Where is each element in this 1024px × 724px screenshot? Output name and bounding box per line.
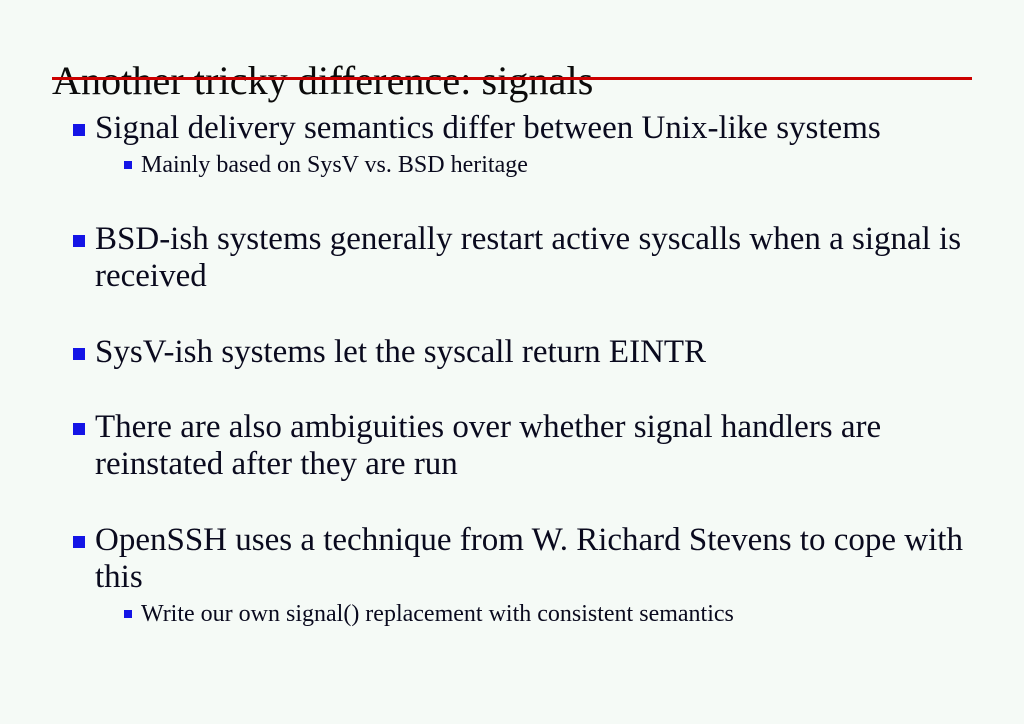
presentation-slide: Another tricky difference: signals Signa…	[0, 0, 1024, 724]
bullet-square-icon	[73, 536, 85, 548]
list-item-label: Mainly based on SysV vs. BSD heritage	[141, 152, 528, 178]
list-item: Write our own signal() replacement with …	[0, 597, 1024, 631]
list-item-label: BSD-ish systems generally restart active…	[95, 221, 961, 294]
bullet-square-icon	[73, 348, 85, 360]
list-item-label: There are also ambiguities over whether …	[95, 409, 881, 482]
list-item: SysV-ish systems let the syscall return …	[0, 334, 1024, 371]
spacer	[0, 483, 1024, 512]
list-item: OpenSSH uses a technique from W. Richard…	[0, 522, 1024, 596]
bullet-square-icon	[73, 124, 85, 136]
list-item-label: Write our own signal() replacement with …	[141, 601, 734, 627]
list-item: Mainly based on SysV vs. BSD heritage	[0, 148, 1024, 182]
spacer	[0, 371, 1024, 399]
list-item-label: OpenSSH uses a technique from W. Richard…	[95, 522, 963, 595]
bullet-square-icon	[124, 610, 132, 618]
bullet-square-icon	[73, 423, 85, 435]
bullet-square-icon	[73, 235, 85, 247]
list-item: Signal delivery semantics differ between…	[0, 110, 1024, 147]
list-item-label: Signal delivery semantics differ between…	[95, 110, 881, 146]
page-title: Another tricky difference: signals	[52, 57, 976, 105]
spacer	[0, 295, 1024, 324]
bullet-square-icon	[124, 161, 132, 169]
title-underline-rule	[52, 77, 972, 80]
spacer	[0, 182, 1024, 211]
list-item: There are also ambiguities over whether …	[0, 409, 1024, 483]
list-item-label: SysV-ish systems let the syscall return …	[95, 334, 706, 370]
list-item: BSD-ish systems generally restart active…	[0, 221, 1024, 295]
slide-body-bullet-list: Signal delivery semantics differ between…	[0, 100, 1024, 631]
